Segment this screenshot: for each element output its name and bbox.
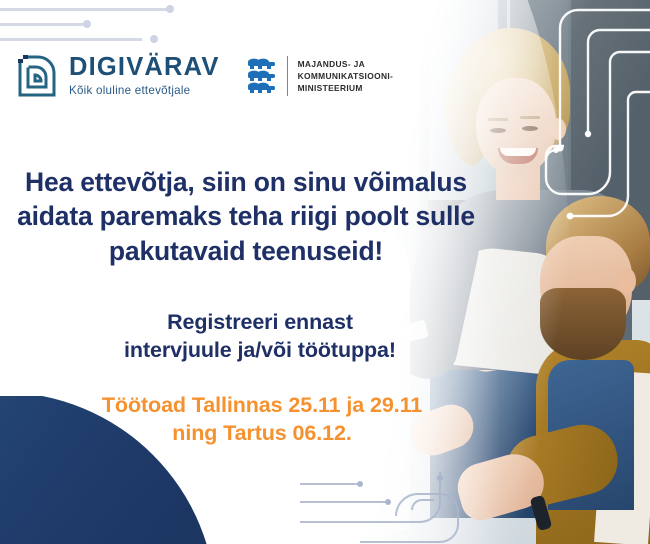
registration-callout: Registreeri ennast intervjuule ja/või tö… [0, 308, 520, 365]
ministry-divider [287, 56, 288, 96]
headline-line-1: Hea ettevõtja, siin on sinu võimalus [0, 165, 492, 199]
ministry-name: MAJANDUS- JA KOMMUNIKATSIOONI- MINISTEER… [298, 58, 394, 95]
brand-name: DIGIVÄRAV [69, 55, 220, 81]
headline-line-2: aidata paremaks teha riigi poolt sulle [0, 199, 492, 233]
promo-poster: DIGIVÄRAV Kõik oluline ettevõtjale [0, 0, 650, 544]
workshop-dates: Töötoad Tallinnas 25.11 ja 29.11 ning Ta… [0, 391, 524, 448]
dates-line-2: ning Tartus 06.12. [0, 419, 524, 447]
brand-tagline: Kõik oluline ettevõtjale [69, 85, 220, 97]
estonian-coat-of-arms-icon [246, 57, 278, 95]
subline-line-1: Registreeri ennast [0, 308, 520, 336]
subline-line-2: intervjuule ja/või töötuppa! [0, 336, 520, 364]
ministry-line-2: KOMMUNIKATSIOONI- [298, 70, 394, 82]
ministry-lockup: MAJANDUS- JA KOMMUNIKATSIOONI- MINISTEER… [246, 56, 394, 96]
logo-bar: DIGIVÄRAV Kõik oluline ettevõtjale [16, 50, 393, 102]
logo-text-group: DIGIVÄRAV Kõik oluline ettevõtjale [69, 55, 220, 96]
digivarav-spiral-logo-icon[interactable] [16, 53, 58, 99]
ministry-line-3: MINISTEERIUM [298, 82, 394, 94]
dates-line-1: Töötoad Tallinnas 25.11 ja 29.11 [0, 391, 524, 419]
ministry-line-1: MAJANDUS- JA [298, 58, 394, 70]
headline-line-3: pakutavaid teenuseid! [0, 234, 492, 268]
headline: Hea ettevõtja, siin on sinu võimalus aid… [0, 165, 492, 268]
